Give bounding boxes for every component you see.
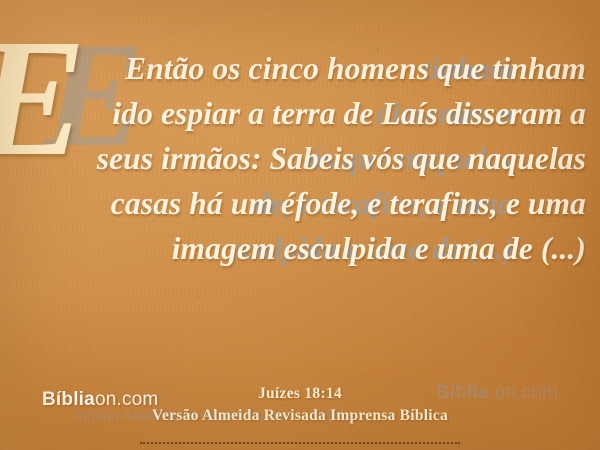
verse-line: Então os cinco homens que tinham [14,46,586,91]
verse-text-layer: E Então os cinco homens que tinham ido e… [0,0,600,450]
verse-card: E tinham disseram a ós que naquelas de, … [0,0,600,450]
bible-version-label: Versão Almeida Revisada Imprensa Bíblica [0,407,600,425]
verse-line: imagem esculpida e uma de (...) [14,226,586,271]
verse-line: ido espiar a terra de Laís disseram a [14,91,586,136]
verse-reference: Juízes 18:14 [0,385,600,403]
verse-line: casas há um éfode, e terafins, e uma [14,181,586,226]
bottom-dotted-rule [140,442,460,444]
verse-line: seus irmãos: Sabeis vós que naquelas [14,136,586,181]
verse-text: Então os cinco homens que tinham ido esp… [14,46,586,271]
